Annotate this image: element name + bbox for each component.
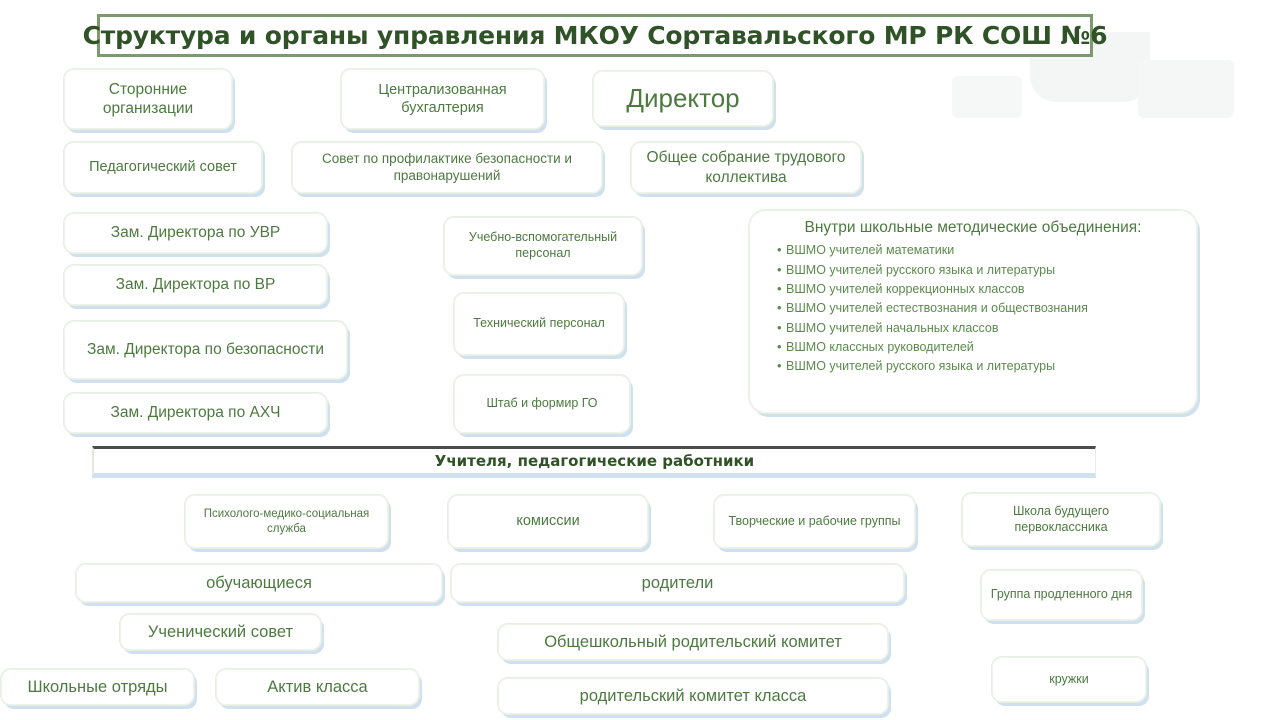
node-schoolwide-parent-committee[interactable]: Общешкольный родительский комитет [497,623,889,661]
list-item: ВШМО учителей начальных классов [777,319,1183,338]
slide-canvas: Структура и органы управления МКОУ Сорта… [0,0,1280,720]
node-general-meeting[interactable]: Общее собрание трудового коллектива [630,141,862,194]
node-creative-groups[interactable]: Творческие и рабочие группы [713,494,916,549]
slide-title: Структура и органы управления МКОУ Сорта… [97,14,1093,57]
node-commissions[interactable]: комиссии [447,494,649,549]
node-prevention-council[interactable]: Совет по профилактике безопасности и пра… [291,141,603,194]
list-item: ВШМО учителей естествознания и обществоз… [777,299,1183,318]
node-psych-service[interactable]: Психолого-медико-социальная служба [184,494,389,549]
node-future-first-grader-school[interactable]: Школа будущего первоклассника [961,492,1161,547]
methodical-list: ВШМО учителей математики ВШМО учителей р… [763,241,1183,377]
slide-title-text: Структура и органы управления МКОУ Сорта… [83,21,1108,50]
node-class-activists[interactable]: Актив класса [215,668,420,706]
teachers-banner: Учителя, педагогические работники [92,446,1096,478]
node-deputy-security[interactable]: Зам. Директора по безопасности [63,320,348,380]
node-director[interactable]: Директор [592,70,774,127]
list-item: ВШМО учителей русского языка и литератур… [777,261,1183,280]
watermark-shape-2 [1138,60,1234,118]
node-school-squads[interactable]: Школьные отряды [0,668,195,706]
list-item: ВШМО учителей математики [777,241,1183,260]
node-extended-day-group[interactable]: Группа продленного дня [980,569,1143,621]
node-centralized-accounting[interactable]: Централизованная бухгалтерия [340,68,545,130]
panel-methodical-associations[interactable]: Внутри школьные методические объединения… [748,209,1198,414]
node-class-parent-committee[interactable]: родительский комитет класса [497,677,889,715]
node-go-staff[interactable]: Штаб и формир ГО [453,374,631,434]
node-pedagogical-council[interactable]: Педагогический совет [63,141,263,194]
node-deputy-vr[interactable]: Зам. Директора по ВР [63,264,328,306]
list-item: ВШМО учителей коррекционных классов [777,280,1183,299]
node-external-orgs[interactable]: Сторонние организации [63,68,233,130]
node-parents[interactable]: родители [450,563,905,603]
panel-heading: Внутри школьные методические объединения… [763,218,1183,238]
node-students[interactable]: обучающиеся [75,563,443,603]
list-item: ВШМО классных руководителей [777,338,1183,357]
node-technical-staff[interactable]: Технический персонал [453,292,625,356]
teachers-banner-text: Учителя, педагогические работники [435,452,754,470]
watermark-shape-3 [952,76,1022,118]
node-clubs[interactable]: кружки [991,656,1147,703]
node-deputy-ahch[interactable]: Зам. Директора по АХЧ [63,392,328,434]
node-support-staff[interactable]: Учебно-вспомогательный персонал [443,216,643,276]
node-deputy-uvr[interactable]: Зам. Директора по УВР [63,212,328,254]
list-item: ВШМО учителей русского языка и литератур… [777,357,1183,376]
node-student-council[interactable]: Ученический совет [119,613,322,651]
